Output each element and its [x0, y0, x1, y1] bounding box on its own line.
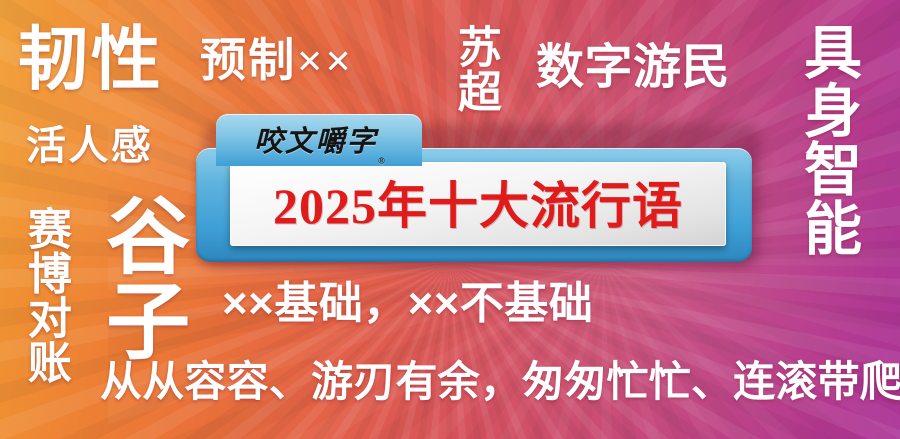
- plaque-inner-panel: 2025年十大流行语: [230, 162, 726, 246]
- magazine-logo-label: 咬文嚼字: [254, 126, 377, 158]
- buzzword-jushenzhineng: 具身智能: [798, 22, 857, 256]
- buzzword-renxing: 韧性: [18, 24, 164, 94]
- buzzword-guzi: 谷子: [98, 192, 184, 362]
- title-plaque: 咬文嚼字® 2025年十大流行语: [196, 114, 758, 264]
- poster-canvas: 韧性 活人感 预制×× 苏超 数字游民 具身智能 赛博对账 谷子 ××基础，××…: [0, 0, 900, 439]
- page-title: 2025年十大流行语: [273, 166, 683, 238]
- buzzword-yuzhi: 预制××: [200, 38, 354, 84]
- buzzword-saibo-duizhang: 赛博对账: [22, 206, 67, 384]
- buzzword-bottom-line: 从从容容、游刃有余，匆匆忙忙、连滚带爬: [100, 362, 900, 404]
- magazine-logo-tab: 咬文嚼字®: [216, 114, 422, 166]
- buzzword-jichu-line: ××基础，××不基础: [222, 282, 593, 326]
- registered-mark-icon: ®: [378, 156, 385, 166]
- buzzword-shuziyoumin: 数字游民: [536, 44, 730, 92]
- buzzword-suchao: 苏超: [452, 24, 497, 113]
- magazine-logo-text: 咬文嚼字®: [254, 118, 384, 160]
- buzzword-huorengan: 活人感: [26, 126, 153, 166]
